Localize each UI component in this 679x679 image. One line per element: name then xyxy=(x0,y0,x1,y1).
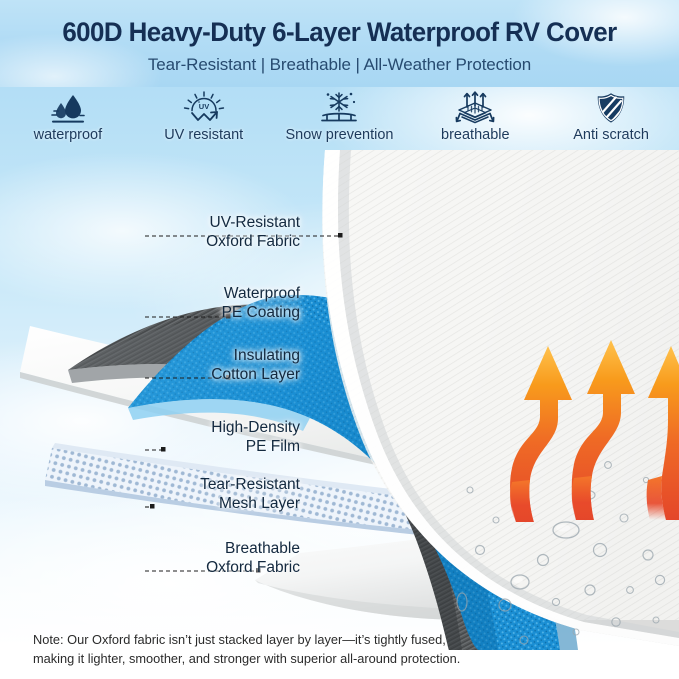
page-subtitle: Tear-Resistant | Breathable | All-Weathe… xyxy=(0,55,679,75)
layer-label-pe-film: High-Density PE Film xyxy=(70,418,300,456)
footer-note-line1: Note: Our Oxford fabric isn’t just stack… xyxy=(33,630,625,649)
layer-label-line1: Breathable xyxy=(70,539,300,558)
layer-label-line2: PE Coating xyxy=(70,303,300,322)
footer-note: Note: Our Oxford fabric isn’t just stack… xyxy=(33,630,625,668)
layer-label-line1: Waterproof xyxy=(70,284,300,303)
page-title: 600D Heavy-Duty 6-Layer Waterproof RV Co… xyxy=(14,17,666,48)
layer-label-cotton: Insulating Cotton Layer xyxy=(70,346,300,384)
layer-callout-labels: UV-Resistant Oxford Fabric Waterproof PE… xyxy=(0,150,300,620)
layer-label-line2: Mesh Layer xyxy=(70,494,300,513)
breathable-mesh-icon xyxy=(453,91,497,125)
layer-label-line1: Tear-Resistant xyxy=(70,475,300,494)
layer-label-bottom-oxford: Breathable Oxford Fabric xyxy=(70,539,300,577)
uv-sun-icon: UV xyxy=(182,91,226,125)
header-banner: 600D Heavy-Duty 6-Layer Waterproof RV Co… xyxy=(0,0,679,87)
layer-label-line1: High-Density xyxy=(70,418,300,437)
footer-note-line2: making it lighter, smoother, and stronge… xyxy=(33,649,625,668)
feature-waterproof: waterproof xyxy=(0,88,136,156)
feature-icon-row: waterproof UV xyxy=(0,88,679,156)
feature-breathable: breathable xyxy=(407,88,543,156)
svg-text:UV: UV xyxy=(198,102,208,111)
layer-label-pe-coating: Waterproof PE Coating xyxy=(70,284,300,322)
infographic-page: 600D Heavy-Duty 6-Layer Waterproof RV Co… xyxy=(0,0,679,679)
feature-label: waterproof xyxy=(34,127,103,143)
feature-label: UV resistant xyxy=(164,127,243,143)
feature-anti-scratch: Anti scratch xyxy=(543,88,679,156)
layer-label-mesh: Tear-Resistant Mesh Layer xyxy=(70,475,300,513)
layer-label-line1: UV-Resistant xyxy=(70,213,300,232)
water-drop-icon xyxy=(49,91,87,125)
layer-label-line2: PE Film xyxy=(70,437,300,456)
feature-uv-resistant: UV UV resistant xyxy=(136,88,272,156)
feature-label: Anti scratch xyxy=(573,127,649,143)
layer-label-line2: Cotton Layer xyxy=(70,365,300,384)
feature-label: breathable xyxy=(441,127,510,143)
layer-label-line2: Oxford Fabric xyxy=(70,232,300,251)
layer-label-line1: Insulating xyxy=(70,346,300,365)
shield-icon xyxy=(594,91,628,125)
layer-label-line2: Oxford Fabric xyxy=(70,558,300,577)
snowflake-icon xyxy=(318,91,360,125)
feature-snow-prevention: Snow prevention xyxy=(272,88,408,156)
layer-label-uv-oxford: UV-Resistant Oxford Fabric xyxy=(70,213,300,251)
feature-label: Snow prevention xyxy=(285,127,393,143)
